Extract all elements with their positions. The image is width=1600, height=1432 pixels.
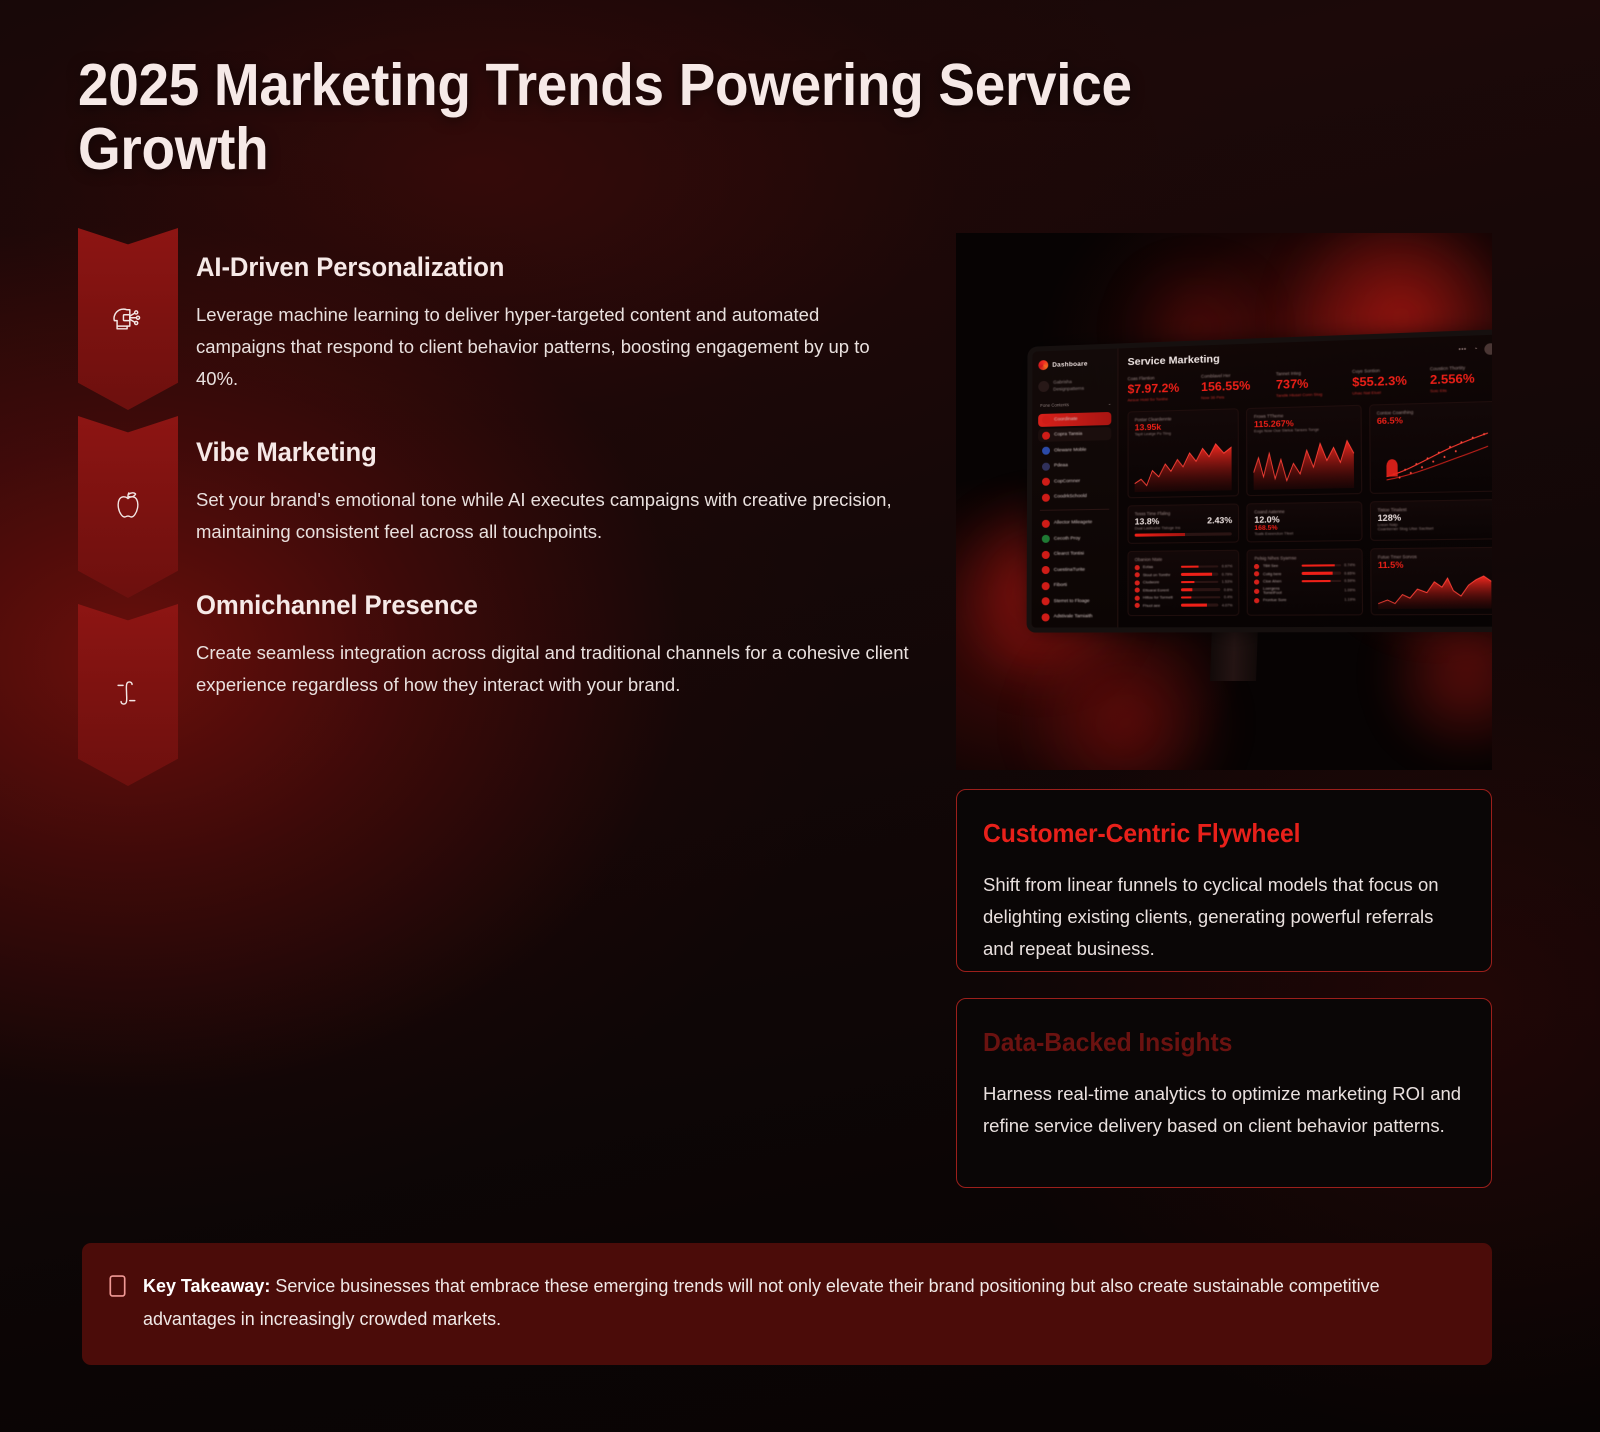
dashboard-header-actions[interactable]: ••• ◔ [1458, 343, 1492, 356]
insight-card-data-insights: Data-Backed Insights Harness real-time a… [956, 998, 1492, 1188]
nav-icon [1042, 551, 1050, 559]
metric-panel-a: Tesss Time Ffaling 13.8% 2.43% Dual Last… [1128, 503, 1240, 543]
trend-body: Set your brand's emotional tone while AI… [196, 484, 911, 548]
kpi-card: Tannet Integ 737% Tandik Hlusel Conn Sto… [1276, 369, 1341, 398]
dashboard-main: Service Marketing ••• ◔ Coas Flantion $7… [1118, 334, 1492, 627]
metric-row-2: Tesss Time Ffaling 13.8% 2.43% Dual Last… [1128, 499, 1492, 544]
sidebar-item-7[interactable]: Cecoth Proy [1038, 532, 1111, 546]
list-panel-1: Obanion Ntate Eotaa0.97% Stout on Tomthr… [1128, 550, 1240, 616]
apple-icon [105, 482, 151, 528]
kpi-card: Comblavel Her 156.55% Now 36 Peis [1201, 372, 1264, 400]
card-body: Harness real-time analytics to optimize … [983, 1078, 1465, 1142]
kpi-card: Coas Flantion $7.97.2% Aesue Hold So Ton… [1128, 374, 1190, 402]
sidebar-item-6[interactable]: Allector Mileagete [1038, 516, 1111, 530]
metric-panel-c: Tistoe Tinalest 128% Lreon Nalp Coantern… [1370, 499, 1492, 541]
list-panel-2: Pelsig Nihes Syarnse TBit See0.74% Cotig… [1247, 548, 1363, 615]
list-item: Fhuol aee4.07% [1135, 602, 1233, 608]
area-chart-panel-1: Postar Cleardennte 13.95k Tapit Leatge P… [1128, 408, 1240, 498]
key-takeaway-label: Key Takeaway: [143, 1275, 270, 1296]
metric-panel-b: Coand Aatenne 12.0% 168.5% Toatk Exeerct… [1247, 501, 1363, 542]
chart-row-1: Postar Cleardennte 13.95k Tapit Leatge P… [1128, 401, 1492, 498]
chevron-badge-3 [78, 604, 178, 786]
card-body: Shift from linear funnels to cyclical mo… [983, 869, 1465, 964]
trend-heading: Vibe Marketing [196, 437, 875, 468]
nav-icon [1042, 582, 1050, 590]
list-item: Loergens TomelFoot1.09% [1255, 586, 1356, 595]
sidebar-item-1[interactable]: Copra Tansia [1038, 427, 1111, 442]
list-item: Ettoaral Eorent0.6% [1135, 587, 1233, 593]
nav-icon [1042, 535, 1050, 543]
trend-item-1: AI-Driven Personalization Leverage machi… [196, 252, 911, 394]
list-item: Frontue Sore1.19% [1255, 597, 1356, 603]
dashboard-logo: Dashboare [1038, 358, 1111, 371]
chevron-badge-2 [78, 416, 178, 598]
list-item: TBit See0.74% [1254, 563, 1355, 569]
nav-icon [1042, 520, 1050, 528]
nav-icon [1042, 598, 1050, 606]
dashboard-monitor-image: Dashboare Gabrisha Designpatterns Fone C… [956, 233, 1492, 770]
sidebar-divider [1040, 509, 1109, 511]
user-role: Designpatterns [1053, 386, 1084, 394]
nav-icon [1042, 416, 1050, 424]
area-chart [1254, 434, 1355, 490]
trend-heading: Omnichannel Presence [196, 590, 875, 621]
nav-icon [1042, 431, 1050, 439]
list-item: Stout on Tomthr0.79% [1135, 571, 1233, 577]
sidebar-item-12[interactable]: Adstivale Tamiaith [1038, 610, 1112, 623]
sidebar-item-8[interactable]: Clearct Tontisi [1038, 547, 1111, 561]
area-chart [1135, 437, 1232, 492]
trend-item-3: Omnichannel Presence Create seamless int… [196, 590, 911, 701]
bell-icon[interactable]: ◔ [1473, 346, 1478, 353]
trend-chart-panel: Futue Tmer Sorvos 11.5% [1370, 547, 1492, 616]
trend-heading: AI-Driven Personalization [196, 252, 875, 283]
sidebar-item-2[interactable]: Oleware Moble [1038, 443, 1111, 458]
insight-card-flywheel: Customer-Centric Flywheel Shift from lin… [956, 789, 1492, 972]
integral-curve-icon [105, 670, 151, 716]
kpi-row: Coas Flantion $7.97.2% Aesue Hold So Ton… [1128, 364, 1492, 402]
monitor-stand [1210, 625, 1258, 681]
dashboard-header-title: Service Marketing [1128, 343, 1492, 368]
list-item: Ciudwore1.53% [1135, 579, 1233, 585]
trend-item-2: Vibe Marketing Set your brand's emotiona… [196, 437, 911, 548]
nav-icon [1042, 613, 1050, 621]
bookmark-note-icon [108, 1274, 127, 1303]
trend-body: Create seamless integration across digit… [196, 637, 911, 701]
dashboard-user[interactable]: Gabrisha Designpatterns [1038, 378, 1111, 394]
key-takeaway-body: Service businesses that embrace these em… [143, 1275, 1380, 1329]
page-title: 2025 Marketing Trends Powering Service G… [78, 54, 1306, 181]
more-icon[interactable]: ••• [1458, 346, 1466, 354]
sidebar-item-9[interactable]: CuestinaTurite [1038, 563, 1112, 577]
list-item: Cotig bere0.65% [1254, 570, 1355, 576]
area-chart [1378, 572, 1492, 609]
nav-icon [1042, 493, 1050, 501]
sidebar-item-3[interactable]: Pdeaa [1038, 459, 1111, 474]
logo-mark-icon [1038, 360, 1048, 370]
nav-icon [1042, 478, 1050, 486]
scatter-chart [1377, 426, 1490, 483]
kpi-card: Cousticn Thortity 2.556% Soic Elis [1430, 364, 1492, 393]
scatter-panel: Contoe Coanthing 66.5% [1369, 401, 1492, 494]
card-title: Data-Backed Insights [983, 1027, 1441, 1058]
key-takeaway-banner: Key Takeaway: Service businesses that em… [82, 1243, 1492, 1365]
list-item: Hittou for Tormett0.4% [1135, 595, 1233, 601]
nav-icon [1042, 447, 1050, 455]
progress-bar [1135, 532, 1233, 536]
sidebar-item-0[interactable]: Coordinate [1038, 412, 1111, 427]
ai-head-icon [105, 294, 151, 340]
avatar[interactable] [1484, 343, 1492, 355]
sidebar-group-label: Fone Contents⌄ [1040, 401, 1111, 409]
monitor-screen: Dashboare Gabrisha Designpatterns Fone C… [1032, 334, 1492, 627]
list-item: Cloe Ahen0.59% [1254, 578, 1355, 584]
chevron-down-icon: ⌄ [1108, 401, 1112, 407]
sidebar-item-10[interactable]: Fiborti [1038, 579, 1112, 593]
card-title: Customer-Centric Flywheel [983, 818, 1441, 849]
key-takeaway-text: Key Takeaway: Service businesses that em… [143, 1270, 1422, 1336]
kpi-card: Cuye Sontion $55.2.3% Uhac Nat Eluel [1352, 367, 1418, 396]
sidebar-item-11[interactable]: Sterret to Floage [1038, 595, 1112, 609]
list-row-3: Obanion Ntate Eotaa0.97% Stout on Tomthr… [1128, 547, 1492, 616]
sidebar-item-4[interactable]: CopCornner [1038, 474, 1111, 489]
dashboard-sidebar: Dashboare Gabrisha Designpatterns Fone C… [1032, 348, 1119, 627]
sidebar-item-5[interactable]: CoodrkSchoold [1038, 490, 1111, 504]
logo-text: Dashboare [1052, 360, 1087, 368]
list-item: Eotaa0.97% [1135, 564, 1233, 570]
avatar [1038, 381, 1049, 392]
trend-body: Leverage machine learning to deliver hyp… [196, 299, 911, 394]
nav-icon [1042, 566, 1050, 574]
chevron-badge-1 [78, 228, 178, 410]
infographic-page: 2025 Marketing Trends Powering Service G… [0, 0, 1600, 1432]
nav-icon [1042, 462, 1050, 470]
area-chart-panel-2: Frows TTheme 115.267% Eogs Now Oue Stetu… [1247, 405, 1363, 496]
